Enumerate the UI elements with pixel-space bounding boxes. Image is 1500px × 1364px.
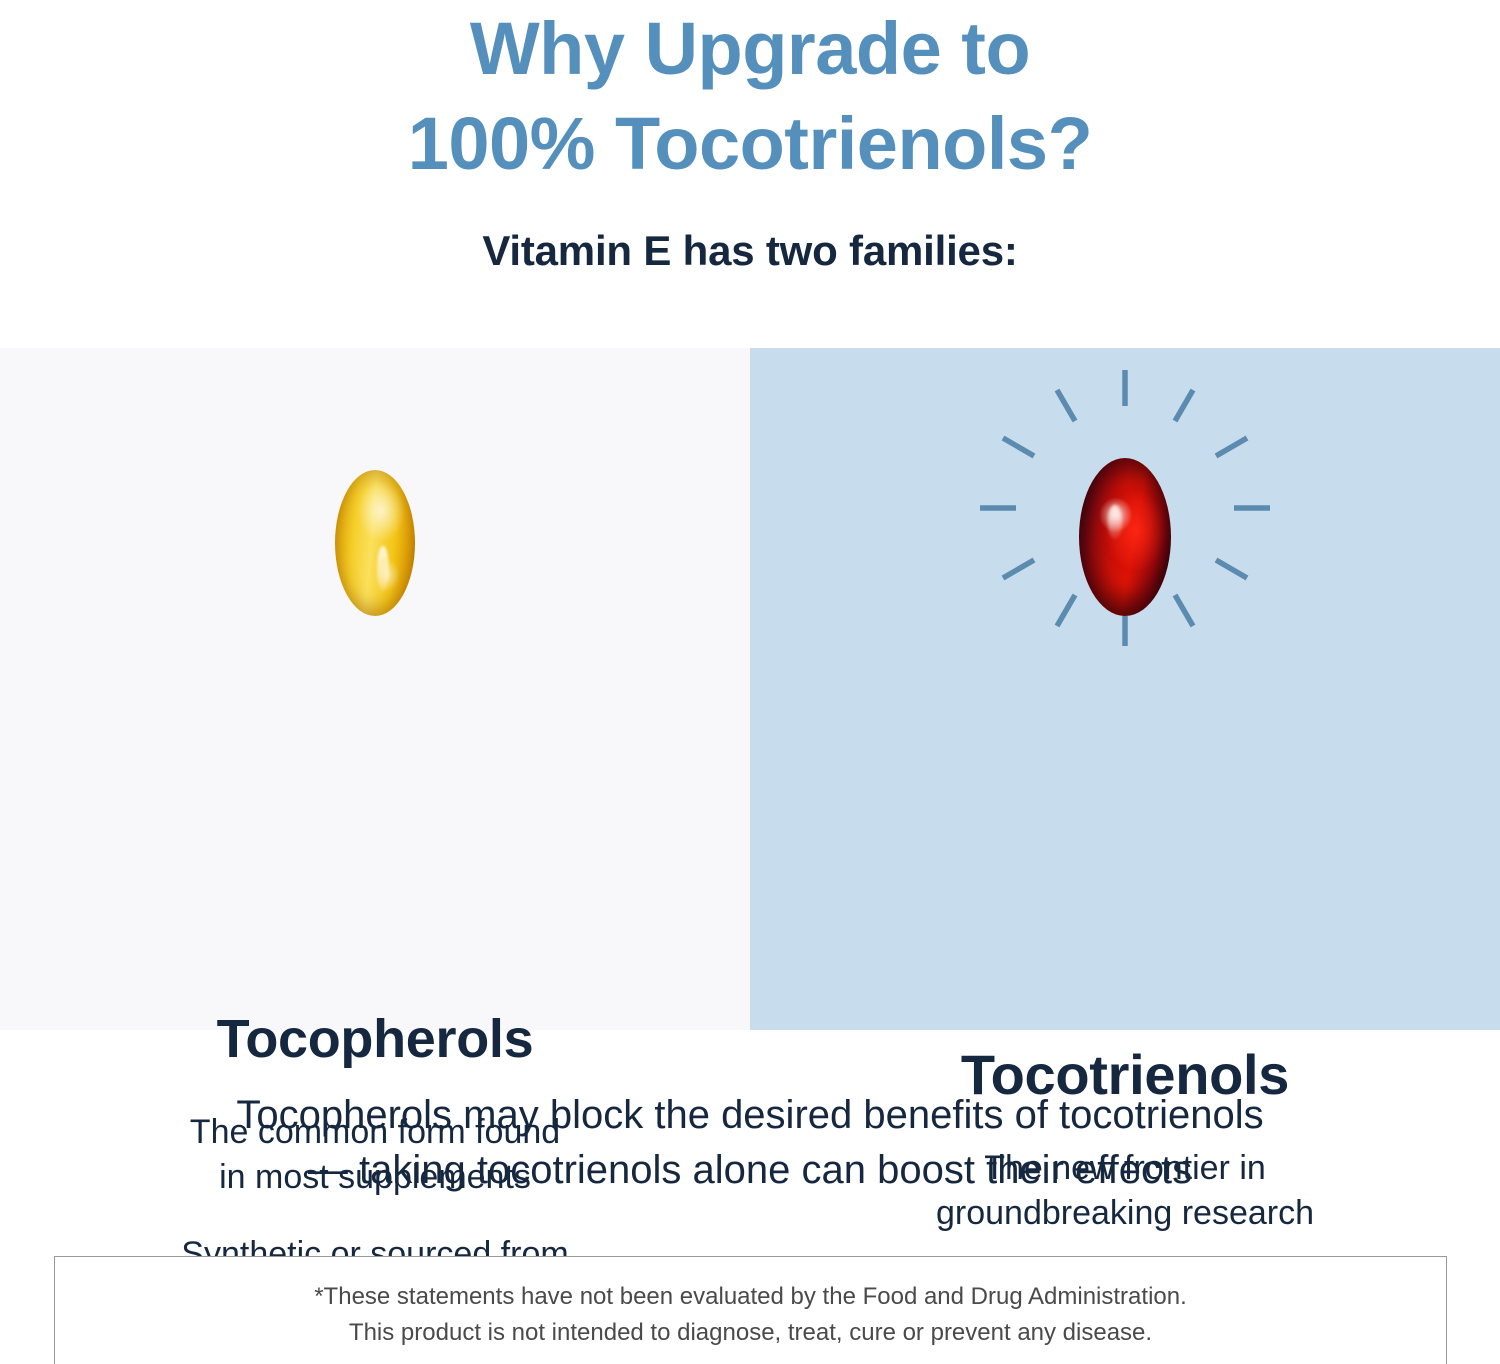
fda-disclaimer-line-2: This product is not intended to diagnose… xyxy=(55,1315,1446,1351)
yellow-softgel-capsule-wrap xyxy=(335,470,415,616)
header: Why Upgrade to 100% Tocotrienols? Vitami… xyxy=(0,0,1500,275)
closing-statement: Tocopherols may block the desired benefi… xyxy=(0,1088,1500,1198)
infographic-page: Why Upgrade to 100% Tocotrienols? Vitami… xyxy=(0,0,1500,1364)
tocopherols-artwork xyxy=(0,348,750,648)
panel-text-line: groundbreaking research xyxy=(750,1191,1500,1236)
page-subtitle: Vitamin E has two families: xyxy=(0,191,1500,275)
page-title-line-1: Why Upgrade to xyxy=(0,2,1500,97)
fda-disclaimer-box: *These statements have not been evaluate… xyxy=(54,1256,1447,1364)
yellow-softgel-capsule xyxy=(335,470,415,616)
tocotrienols-artwork xyxy=(750,348,1500,648)
comparison-panels: Tocopherols The common form found in mos… xyxy=(0,348,1500,1030)
closing-statement-line-2: — taking tocotrienols alone can boost th… xyxy=(0,1143,1500,1198)
red-softgel-capsule xyxy=(1079,458,1171,616)
panel-tocotrienols: Tocotrienols The new frontier in groundb… xyxy=(750,348,1500,1030)
red-softgel-capsule-wrap xyxy=(1079,458,1171,616)
panel-tocopherols: Tocopherols The common form found in mos… xyxy=(0,348,750,1030)
page-title: Why Upgrade to 100% Tocotrienols? xyxy=(0,0,1500,191)
panel-heading-tocopherols: Tocopherols xyxy=(0,1008,750,1070)
closing-statement-line-1: Tocopherols may block the desired benefi… xyxy=(0,1088,1500,1143)
page-title-line-2: 100% Tocotrienols? xyxy=(0,97,1500,192)
fda-disclaimer-line-1: *These statements have not been evaluate… xyxy=(55,1279,1446,1315)
